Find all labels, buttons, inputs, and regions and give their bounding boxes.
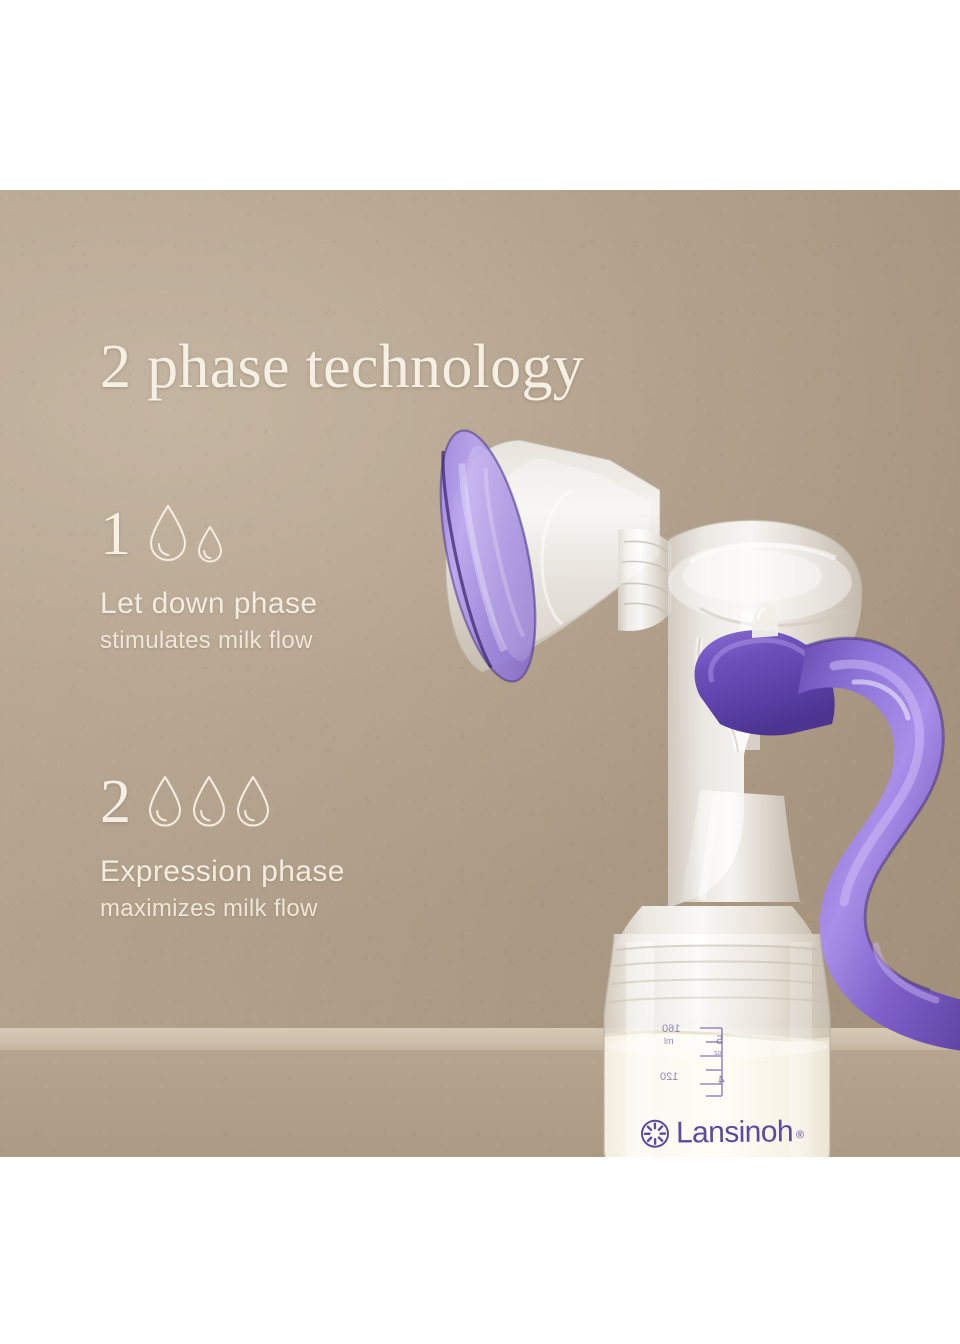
- phase-1-title: Let down phase: [100, 587, 317, 622]
- product-feature-image: 160 ml 5 oz 120 4: [0, 0, 960, 1344]
- brand-logo: Lansinoh ®: [640, 1117, 804, 1149]
- water-drop-icon: [233, 773, 273, 829]
- scale-120-label: 120: [660, 1072, 678, 1083]
- bottle-measurement-scale: 160 ml 5 oz 120 4: [660, 1022, 746, 1096]
- scale-160-label: 160: [662, 1024, 680, 1035]
- phase-1-subtitle: stimulates milk flow: [100, 627, 317, 655]
- phase-1-drops: [145, 502, 225, 566]
- water-drop-icon: [145, 502, 191, 564]
- phase-1-header: 1: [100, 495, 317, 573]
- phase-2-header: 2: [100, 763, 345, 841]
- scale-unit-label: ml: [664, 1037, 674, 1046]
- phase-2-drops: [145, 773, 273, 831]
- lansinoh-flower-icon: [640, 1119, 670, 1149]
- phase-1-number: 1: [100, 503, 131, 565]
- phase-2-subtitle: maximizes milk flow: [100, 895, 345, 923]
- brand-name-text: Lansinoh: [676, 1117, 793, 1148]
- scale-oz-unit-label: oz: [714, 1050, 721, 1057]
- water-drop-icon: [145, 773, 185, 829]
- phase-2-title: Expression phase: [100, 855, 345, 890]
- phase-2-number: 2: [100, 771, 131, 833]
- scale-5oz-label: 5: [716, 1034, 723, 1046]
- brand-registered-mark: ®: [796, 1129, 804, 1141]
- page-title: 2 phase technology: [100, 335, 584, 400]
- water-drop-icon: [195, 524, 225, 564]
- phase-item-2: 2: [100, 763, 345, 922]
- photo-scene: 160 ml 5 oz 120 4: [0, 190, 960, 1157]
- shelf-edge: [0, 1028, 960, 1052]
- shelf-surface: [0, 1050, 960, 1157]
- scale-4oz-label: 4: [718, 1074, 725, 1086]
- water-drop-icon: [189, 773, 229, 829]
- phase-item-1: 1 Let down ph: [100, 495, 317, 654]
